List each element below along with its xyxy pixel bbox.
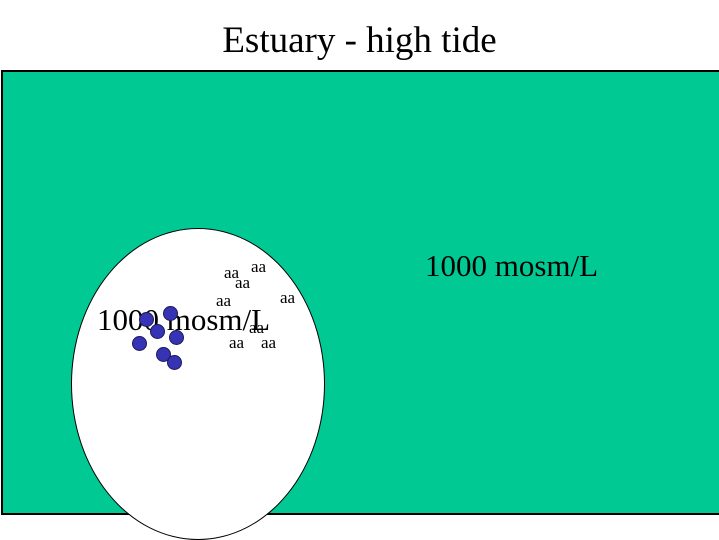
amino-acid-label: aa [251, 258, 266, 276]
particle-dot [169, 330, 184, 345]
cell-osmolarity-label: 1000 mosm/L [97, 302, 270, 338]
particle-dot [163, 306, 178, 321]
particle-dot [167, 355, 182, 370]
environment-osmolarity-label: 1000 mosm/L [425, 248, 598, 284]
particle-dot [150, 324, 165, 339]
amino-acid-label: aa [216, 292, 231, 310]
amino-acid-label: aa [261, 334, 276, 352]
amino-acid-label: aa [235, 274, 250, 292]
amino-acid-label: aa [280, 289, 295, 307]
organism-body-ellipse [71, 228, 325, 540]
slide-canvas: Estuary - high tide 1000 mosm/L 1000 mos… [0, 0, 719, 539]
amino-acid-label: aa [229, 334, 244, 352]
particle-dot [132, 336, 147, 351]
estuary-water-region: 1000 mosm/L 1000 mosm/L aaaaaaaaaaaaaaaa [1, 70, 719, 515]
page-title: Estuary - high tide [0, 19, 719, 63]
